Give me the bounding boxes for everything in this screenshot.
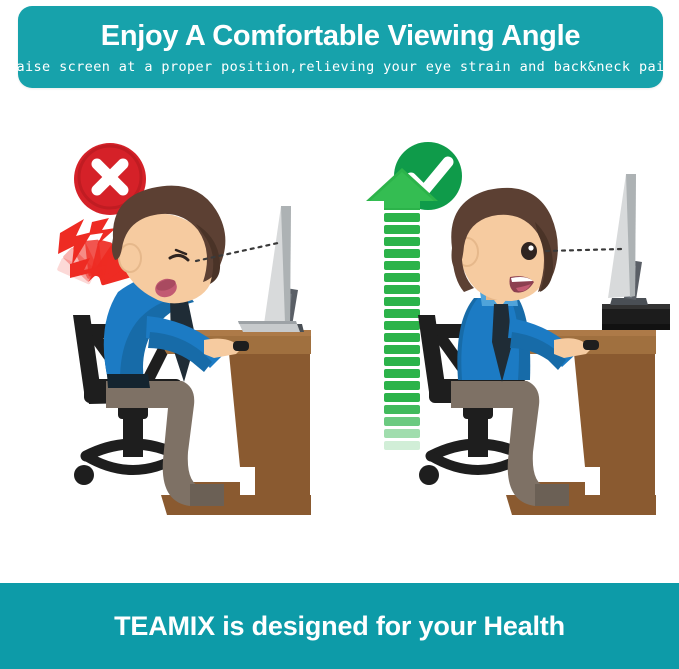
person-head-good-posture bbox=[451, 188, 558, 301]
page-title: Enjoy A Comfortable Viewing Angle bbox=[101, 19, 580, 53]
bad-posture-panel bbox=[0, 92, 339, 583]
mouse-icon bbox=[233, 341, 249, 351]
top-banner: Enjoy A Comfortable Viewing Angle Raise … bbox=[18, 6, 663, 88]
monitor-riser bbox=[602, 304, 670, 330]
page-subtitle: Raise screen at a proper position,reliev… bbox=[8, 58, 673, 76]
poster-root: Enjoy A Comfortable Viewing Angle Raise … bbox=[0, 0, 679, 669]
monitor-low bbox=[238, 206, 304, 332]
raise-arrow-indicator bbox=[366, 168, 438, 450]
person-body-good-posture bbox=[457, 292, 576, 382]
illustration-stage bbox=[0, 92, 679, 583]
bottom-banner: TEAMIX is designed for your Health bbox=[0, 583, 679, 669]
good-posture-panel bbox=[340, 92, 679, 583]
mouse-icon bbox=[583, 340, 599, 350]
monitor-raised bbox=[608, 174, 648, 305]
brand-tagline: TEAMIX is designed for your Health bbox=[114, 611, 565, 642]
